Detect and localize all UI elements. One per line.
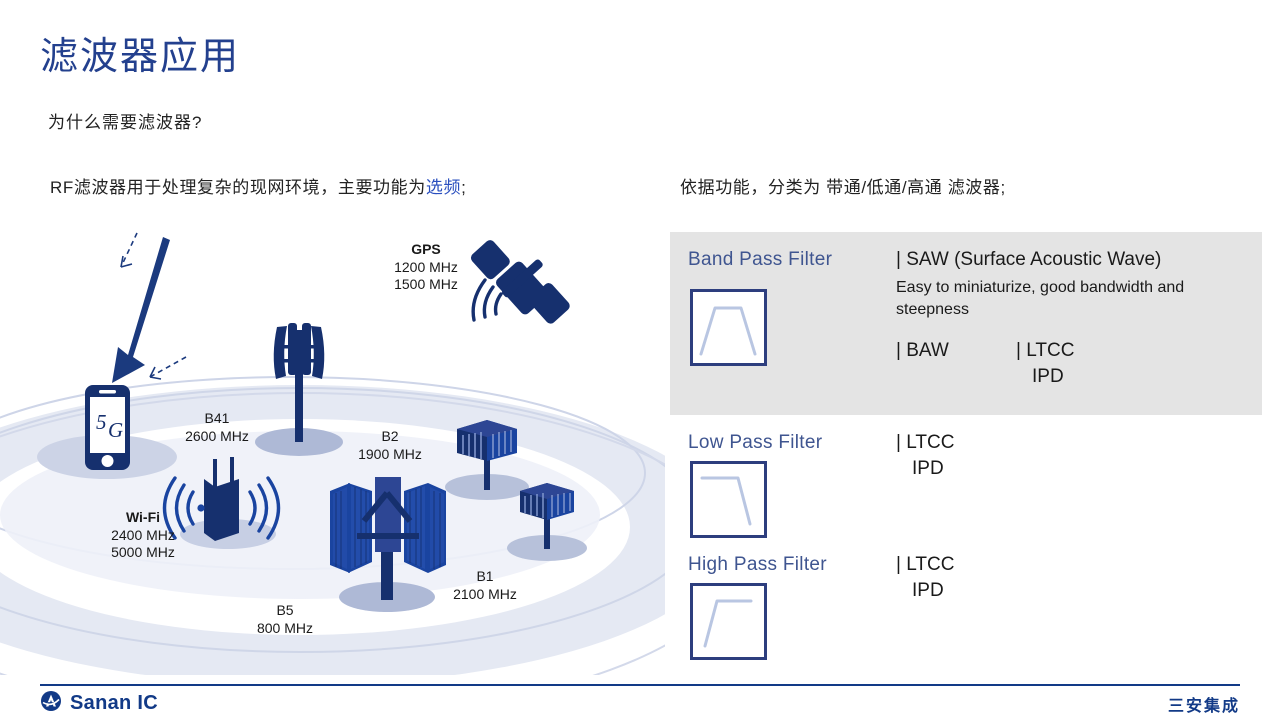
label-b2-name: B2 [353, 428, 427, 446]
page-subtitle: 为什么需要滤波器? [48, 108, 202, 133]
label-b1: B1 2100 MHz [448, 568, 522, 603]
footer-logo-group: Sanan IC [40, 690, 158, 717]
lead-left-post: ; [461, 178, 466, 197]
filter-name-band-pass: Band Pass Filter [688, 249, 832, 271]
sanan-logo-icon [40, 690, 62, 717]
footer-brand-cn: 三安集成 [1168, 692, 1240, 716]
footer-divider [40, 684, 1240, 686]
label-b1-freq: 2100 MHz [448, 586, 522, 604]
low-pass-curve-icon [690, 461, 767, 538]
label-b2-freq: 1900 MHz [353, 446, 427, 464]
filter-spec-ipd-bpf: IPD [1032, 366, 1064, 388]
svg-text:5: 5 [96, 410, 107, 434]
footer-brand-name: Sanan IC [70, 692, 158, 715]
label-wifi-freq-1: 2400 MHz [104, 527, 182, 545]
filter-name-low-pass: Low Pass Filter [688, 432, 822, 454]
lead-left-pre: RF滤波器用于处理复杂的现网环境，主要功能为 [50, 178, 426, 197]
label-wifi-name: Wi-Fi [104, 509, 182, 527]
high-pass-curve-icon [690, 583, 767, 660]
slide-root: 滤波器应用 为什么需要滤波器? RF滤波器用于处理复杂的现网环境，主要功能为选频… [0, 0, 1280, 720]
label-gps-name: GPS [388, 241, 464, 259]
label-gps: GPS 1200 MHz 1500 MHz [388, 241, 464, 294]
lead-text-left: RF滤波器用于处理复杂的现网环境，主要功能为选频; [50, 173, 466, 198]
label-b2: B2 1900 MHz [353, 428, 427, 463]
filter-spec-baw: | BAW [896, 340, 949, 362]
label-b5-freq: 800 MHz [248, 620, 322, 638]
svg-text:G: G [108, 418, 123, 442]
filter-spec-ltcc-hpf: | LTCC [896, 554, 954, 576]
lead-left-accent: 选频 [426, 178, 461, 197]
label-b1-name: B1 [448, 568, 522, 586]
label-b41-name: B41 [180, 410, 254, 428]
filter-spec-saw: | SAW (Surface Acoustic Wave) [896, 249, 1161, 271]
label-b5: B5 800 MHz [248, 602, 322, 637]
filter-spec-ipd-hpf: IPD [912, 580, 944, 602]
label-gps-freq-2: 1500 MHz [388, 276, 464, 294]
lead-text-right: 依据功能，分类为 带通/低通/高通 滤波器; [680, 173, 1006, 198]
filter-spec-ltcc-lpf: | LTCC [896, 432, 954, 454]
label-b41-freq: 2600 MHz [180, 428, 254, 446]
filter-spec-ltcc-bpf: | LTCC [1016, 340, 1074, 362]
label-b5-name: B5 [248, 602, 322, 620]
label-wifi: Wi-Fi 2400 MHz 5000 MHz [104, 509, 182, 562]
filter-name-high-pass: High Pass Filter [688, 554, 827, 576]
filter-spec-ipd-lpf: IPD [912, 458, 944, 480]
band-pass-curve-icon [690, 289, 767, 366]
label-wifi-freq-2: 5000 MHz [104, 544, 182, 562]
filter-desc-saw: Easy to miniaturize, good bandwidth and … [896, 277, 1236, 320]
page-title: 滤波器应用 [40, 36, 240, 80]
label-gps-freq-1: 1200 MHz [388, 259, 464, 277]
gps-satellite-icon [470, 238, 580, 343]
label-b41: B41 2600 MHz [180, 410, 254, 445]
